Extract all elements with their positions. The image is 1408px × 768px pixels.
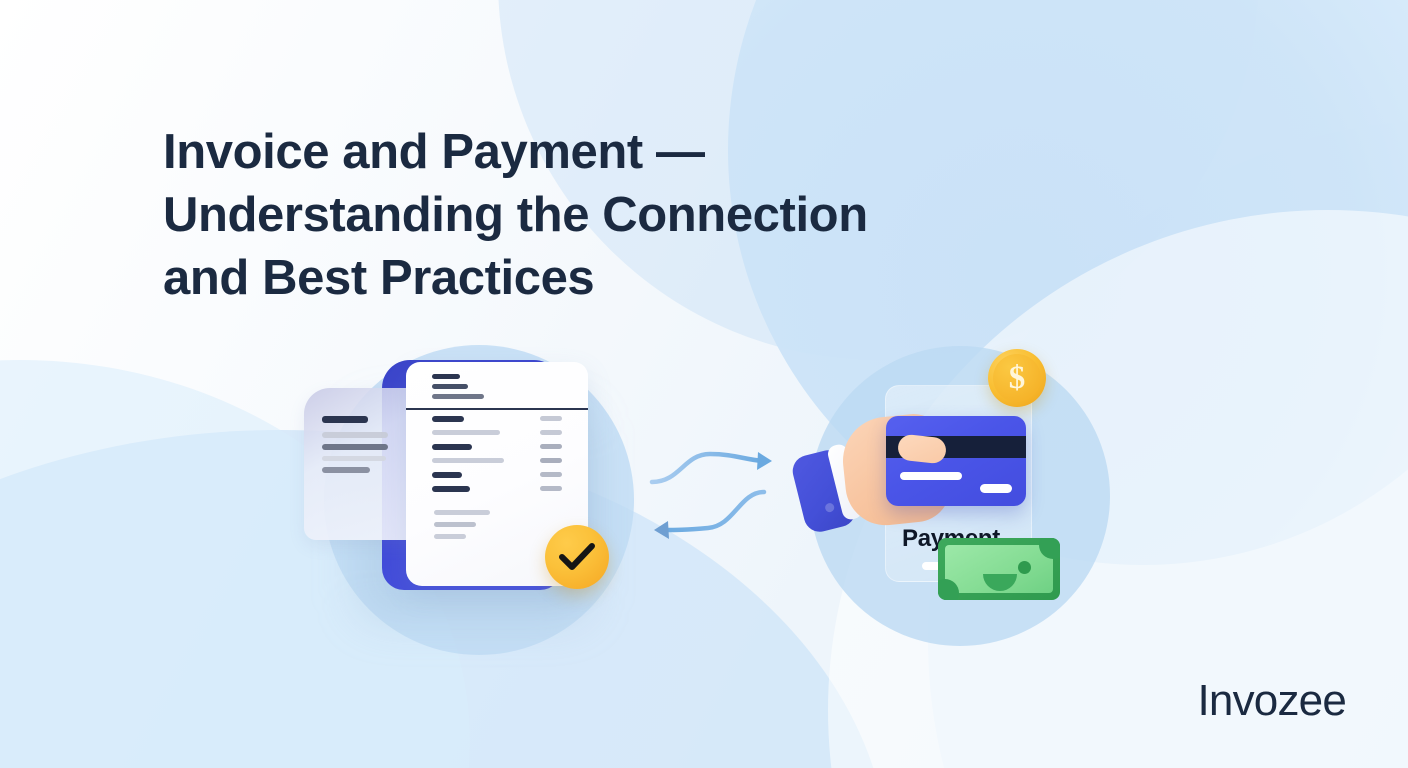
invoice-divider (406, 408, 588, 410)
sleeve-button (824, 502, 835, 513)
connector-arrows (636, 440, 806, 560)
arrow-left-curved (654, 492, 764, 539)
page-title: Invoice and Payment — Understanding the … (163, 121, 1023, 310)
blog-banner: Invoice and Payment — Understanding the … (0, 0, 1408, 768)
credit-card-icon (886, 416, 1026, 506)
banknote-seal (1018, 561, 1031, 574)
arrow-right-curved (652, 452, 772, 482)
dollar-symbol: $ (1009, 362, 1026, 395)
banknote-icon (938, 538, 1060, 600)
banknote-corner-left (938, 579, 959, 600)
brand-logo: Invozee (1197, 676, 1346, 726)
invoice-illustration (300, 340, 630, 660)
background-decoration (0, 0, 1408, 768)
card-expiry-line (980, 484, 1012, 493)
banknote-corner-right (1039, 538, 1060, 559)
payment-illustration: $ Payment (790, 340, 1110, 660)
card-number-line (900, 472, 962, 480)
invoice-approved-badge (545, 525, 609, 589)
dollar-coin-icon: $ (988, 349, 1046, 407)
banknote-arc (983, 557, 1017, 591)
